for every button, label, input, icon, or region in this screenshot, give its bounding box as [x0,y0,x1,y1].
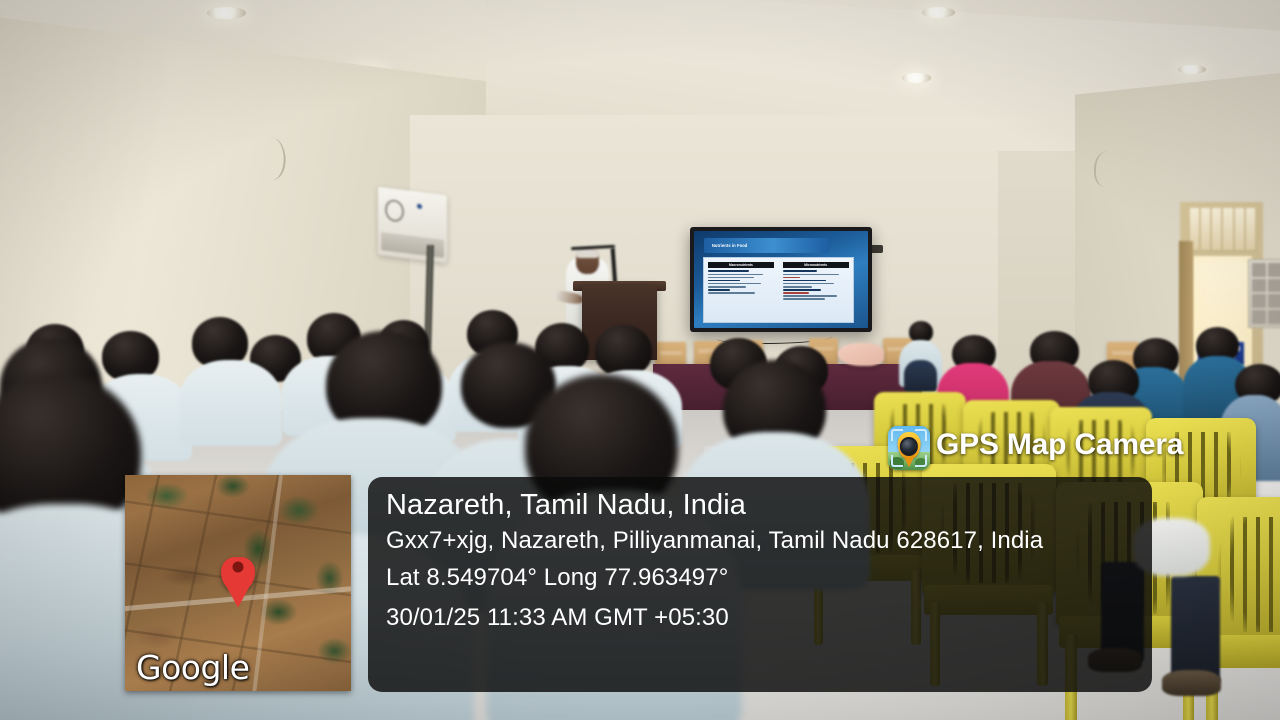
attendee-torso [904,360,937,392]
gps-info-panel: Nazareth, Tamil Nadu, India Gxx7+xjg, Na… [368,477,1152,692]
ceiling-downlight [207,7,245,19]
presentation-slide: Nutrients in Food Macronutrients [694,231,868,328]
light-switch-panel [1248,259,1280,327]
capture-timestamp: 30/01/25 11:33 AM GMT +05:30 [386,599,1152,638]
map-thumbnail[interactable]: Google [125,475,351,691]
gps-map-camera-photo: Nutrients in Food Macronutrients [0,0,1280,720]
student-uniform [179,360,281,446]
door-transom-grille [1188,206,1257,252]
location-place: Nazareth, Tamil Nadu, India [386,487,1152,524]
attendee-legs [1171,576,1220,684]
ac-vent [380,232,444,258]
google-watermark: Google [136,648,249,687]
ac-brand-icon [385,198,404,222]
slide-title-banner: Nutrients in Food [704,238,829,254]
display-screen: Nutrients in Food Macronutrients [694,231,868,328]
slide-column-micronutrients: Micronutrients [778,258,853,322]
gps-map-camera-brand-label: GPS Map Camera [936,428,1183,462]
slide-body: Macronutrients Micronutrients [703,257,854,323]
slide-column-heading: Macronutrients [708,262,774,268]
air-conditioner-unit [378,187,447,264]
ceiling-downlight [902,73,930,82]
location-coordinates: Lat 8.549704° Long 77.963497° [386,557,1152,599]
slide-title-text: Nutrients in Food [704,243,747,248]
location-address: Gxx7+xjg, Nazareth, Pilliyanmanai, Tamil… [386,524,1152,557]
footwear [1162,670,1221,696]
wall-cable-right [1094,151,1122,187]
ceiling-downlight [922,7,955,18]
gps-map-camera-logo-icon [888,426,930,470]
slide-column-heading: Micronutrients [783,262,849,268]
map-pin-icon [221,557,255,591]
slide-column-text [708,270,774,293]
presentation-display: Nutrients in Food Macronutrients [690,227,872,332]
ac-indicator-icon [416,204,421,210]
cloth-on-table [838,343,884,366]
slide-column-macronutrients: Macronutrients [704,258,779,322]
slide-column-text [783,270,849,299]
ceiling-downlight [1178,65,1206,74]
